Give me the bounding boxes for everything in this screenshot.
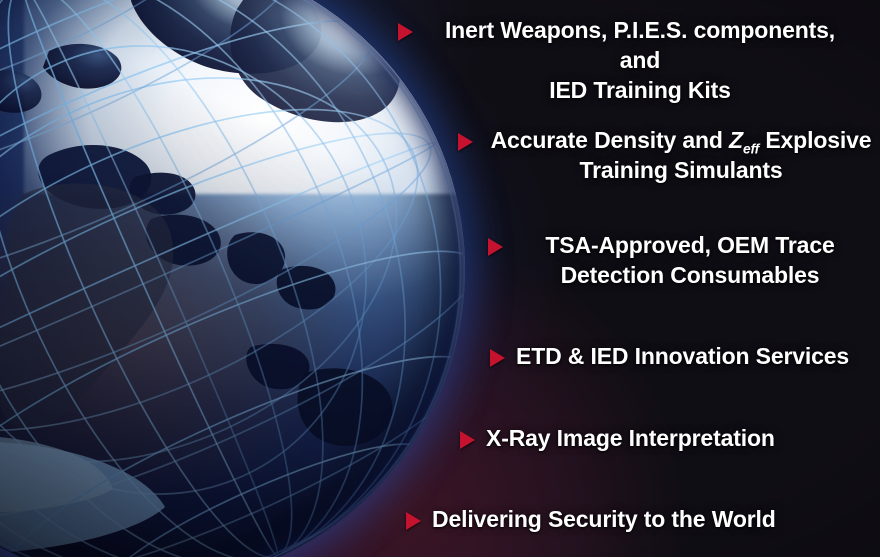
feature-bullet-list: Inert Weapons, P.I.E.S. components, and …	[398, 0, 880, 557]
bullet-item-delivering-security: Delivering Security to the World	[406, 505, 846, 535]
bullet-item-etd-ied-innovation: ETD & IED Innovation Services	[490, 342, 870, 372]
bullet-text: Inert Weapons, P.I.E.S. components, and …	[424, 16, 856, 106]
red-triangle-icon	[490, 349, 505, 367]
red-triangle-icon	[406, 512, 421, 530]
z-symbol: Z	[729, 127, 743, 153]
bullet-text: Accurate Density and Zeff Explosive Trai…	[484, 126, 878, 186]
bullet-text-before: Accurate Density and	[491, 127, 729, 153]
red-triangle-icon	[398, 23, 413, 41]
bullet-text: TSA-Approved, OEM Trace Detection Consum…	[514, 231, 866, 291]
red-triangle-icon	[458, 133, 473, 151]
red-triangle-icon	[488, 238, 503, 256]
bullet-item-tsa-approved: TSA-Approved, OEM Trace Detection Consum…	[488, 231, 868, 291]
red-triangle-icon	[460, 431, 475, 449]
bullet-item-inert-weapons: Inert Weapons, P.I.E.S. components, and …	[398, 16, 868, 106]
slide-canvas: Inert Weapons, P.I.E.S. components, and …	[0, 0, 880, 557]
bullet-item-xray-interpretation: X-Ray Image Interpretation	[460, 424, 860, 454]
bullet-text: ETD & IED Innovation Services	[516, 342, 849, 372]
bullet-item-density-zeff: Accurate Density and Zeff Explosive Trai…	[458, 126, 878, 186]
bullet-text: X-Ray Image Interpretation	[486, 424, 775, 454]
z-subscript: eff	[743, 142, 759, 157]
bullet-text: Delivering Security to the World	[432, 505, 776, 535]
